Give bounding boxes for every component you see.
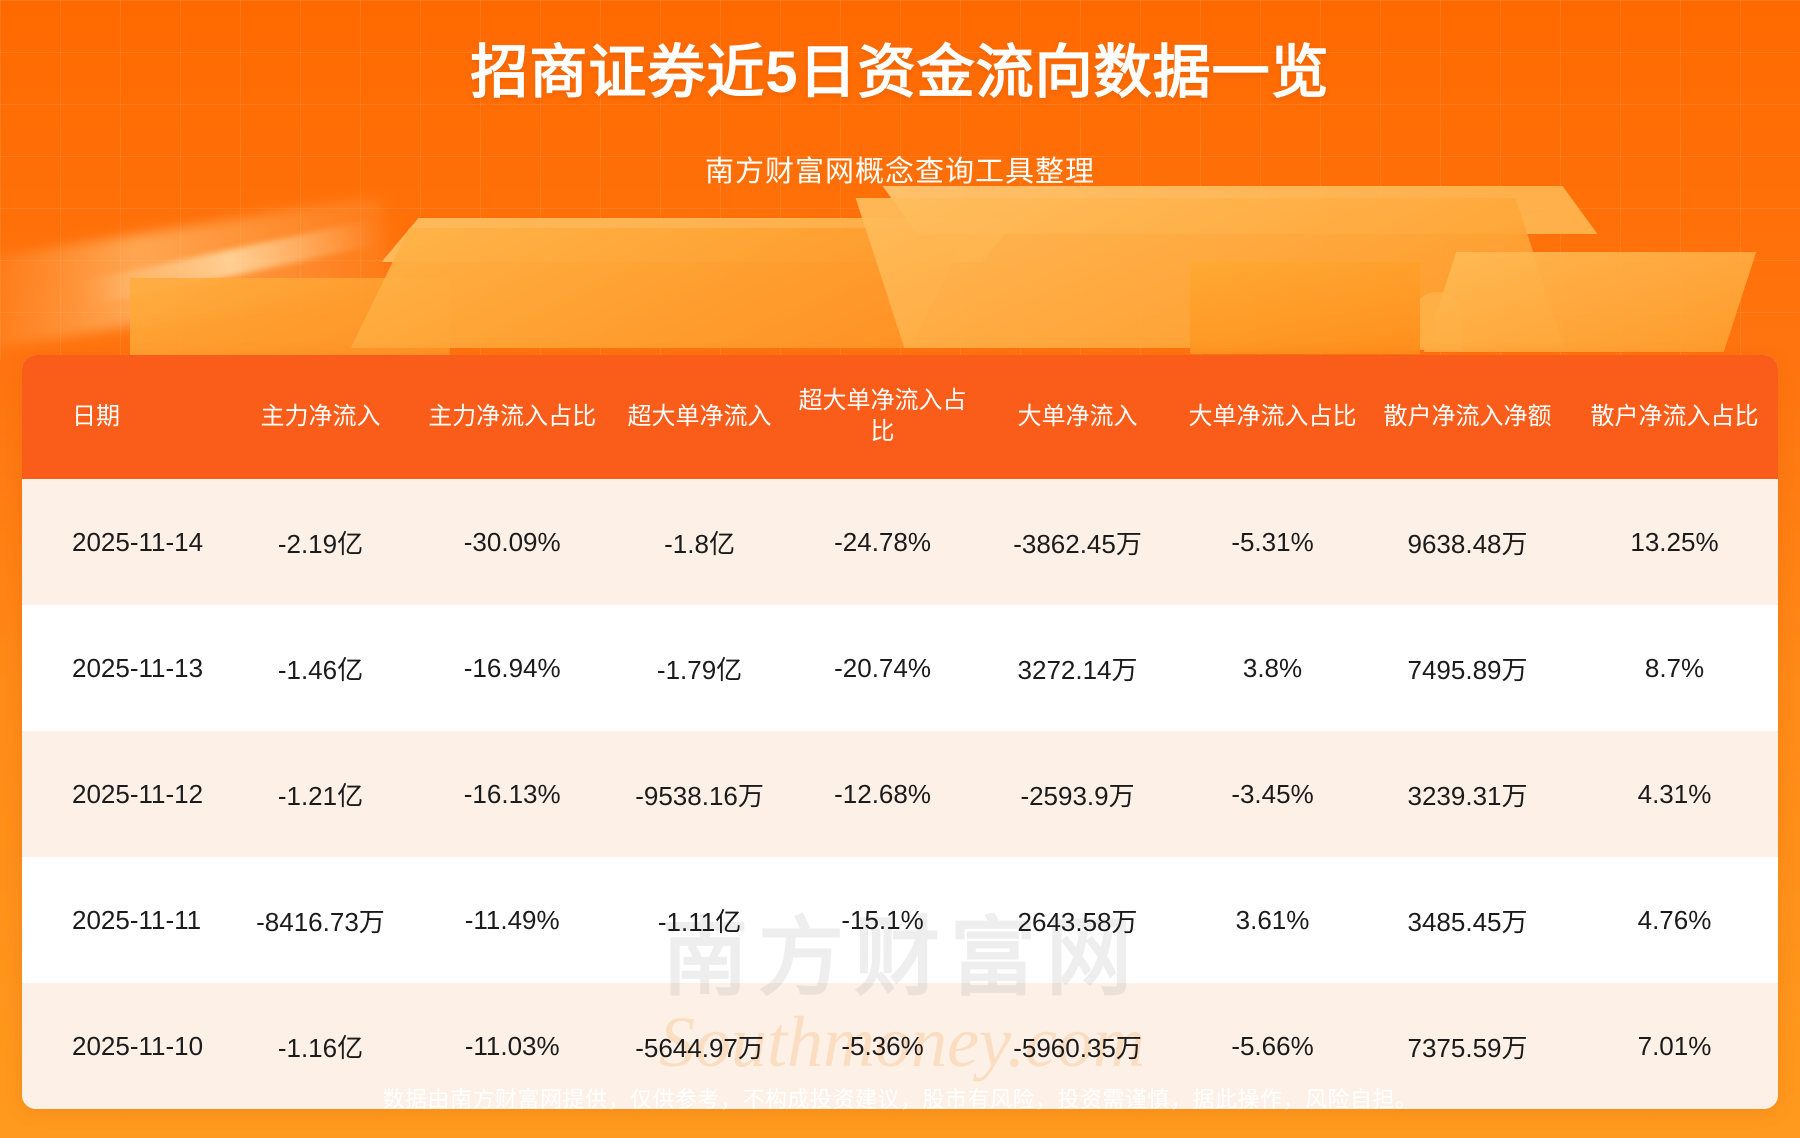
cell-main-net: -1.21亿: [225, 731, 417, 857]
cell-retail-pct: 4.31%: [1571, 731, 1778, 857]
cell-main-net: -8416.73万: [225, 857, 417, 983]
table-row: 2025-11-13 -1.46亿 -16.94% -1.79亿 -20.74%…: [22, 605, 1778, 731]
table-body: 2025-11-14 -2.19亿 -30.09% -1.8亿 -24.78% …: [22, 479, 1778, 1109]
cell-retail-pct: 13.25%: [1571, 479, 1778, 605]
cell-xl-pct: -12.68%: [791, 731, 974, 857]
cell-xl-net: -1.8亿: [608, 479, 791, 605]
cell-retail-net: 3485.45万: [1364, 857, 1571, 983]
cell-xl-pct: -5.36%: [791, 983, 974, 1109]
cell-xl-net: -1.79亿: [608, 605, 791, 731]
column-header-xl-net: 超大单净流入: [608, 355, 791, 479]
decor-podium-center: [1190, 262, 1420, 354]
cell-main-pct: -16.13%: [416, 731, 608, 857]
fund-flow-table-card: 南方财富网 Southmoney.com 日期 主力净流入 主力净流入占比 超大…: [22, 355, 1778, 1109]
decor-podium-a-top: [382, 218, 1019, 262]
cell-date: 2025-11-14: [22, 479, 225, 605]
decor-podium-b: [856, 198, 1565, 348]
table-row: 2025-11-14 -2.19亿 -30.09% -1.8亿 -24.78% …: [22, 479, 1778, 605]
cell-main-pct: -11.03%: [416, 983, 608, 1109]
infographic-page: 招商证券近5日资金流向数据一览 南方财富网概念查询工具整理 南方财富网 Sout…: [0, 0, 1800, 1138]
column-header-lg-pct: 大单净流入占比: [1181, 355, 1364, 479]
page-subtitle: 南方财富网概念查询工具整理: [0, 148, 1800, 190]
cell-lg-pct: -5.31%: [1181, 479, 1364, 605]
cell-date: 2025-11-12: [22, 731, 225, 857]
table-header: 日期 主力净流入 主力净流入占比 超大单净流入 超大单净流入占比 大单净流入 大…: [22, 355, 1778, 479]
cell-xl-pct: -24.78%: [791, 479, 974, 605]
fund-flow-table: 日期 主力净流入 主力净流入占比 超大单净流入 超大单净流入占比 大单净流入 大…: [22, 355, 1778, 1109]
decor-swoosh-small: [81, 219, 380, 307]
table-row: 2025-11-10 -1.16亿 -11.03% -5644.97万 -5.3…: [22, 983, 1778, 1109]
cell-lg-net: -3862.45万: [974, 479, 1181, 605]
cell-lg-net: -2593.9万: [974, 731, 1181, 857]
decor-nub-two: [1412, 292, 1462, 350]
cell-lg-pct: -3.45%: [1181, 731, 1364, 857]
cell-main-net: -2.19亿: [225, 479, 417, 605]
cell-retail-net: 9638.48万: [1364, 479, 1571, 605]
cell-lg-pct: 3.8%: [1181, 605, 1364, 731]
table-row: 2025-11-11 -8416.73万 -11.49% -1.11亿 -15.…: [22, 857, 1778, 983]
cell-xl-pct: -20.74%: [791, 605, 974, 731]
cell-xl-net: -5644.97万: [608, 983, 791, 1109]
decor-podium-right: [1424, 252, 1756, 352]
cell-retail-net: 3239.31万: [1364, 731, 1571, 857]
cell-date: 2025-11-11: [22, 857, 225, 983]
cell-main-net: -1.16亿: [225, 983, 417, 1109]
column-header-retail-net: 散户净流入净额: [1364, 355, 1571, 479]
table-row: 2025-11-12 -1.21亿 -16.13% -9538.16万 -12.…: [22, 731, 1778, 857]
cell-retail-pct: 8.7%: [1571, 605, 1778, 731]
column-header-date: 日期: [22, 355, 225, 479]
cell-main-pct: -16.94%: [416, 605, 608, 731]
cell-xl-net: -9538.16万: [608, 731, 791, 857]
page-title: 招商证券近5日资金流向数据一览: [0, 38, 1800, 108]
cell-lg-net: 3272.14万: [974, 605, 1181, 731]
cell-main-pct: -11.49%: [416, 857, 608, 983]
decor-podium-a: [351, 228, 970, 348]
decor-podium-left: [130, 278, 450, 358]
column-header-xl-pct: 超大单净流入占比: [791, 355, 974, 479]
cell-main-net: -1.46亿: [225, 605, 417, 731]
column-header-main-pct: 主力净流入占比: [416, 355, 608, 479]
cell-retail-pct: 7.01%: [1571, 983, 1778, 1109]
table-header-row: 日期 主力净流入 主力净流入占比 超大单净流入 超大单净流入占比 大单净流入 大…: [22, 355, 1778, 479]
cell-date: 2025-11-13: [22, 605, 225, 731]
column-header-lg-net: 大单净流入: [974, 355, 1181, 479]
column-header-retail-pct: 散户净流入占比: [1571, 355, 1778, 479]
decor-nub-one: [1208, 286, 1256, 348]
column-header-main-net: 主力净流入: [225, 355, 417, 479]
decor-swoosh: [0, 196, 394, 351]
cell-retail-pct: 4.76%: [1571, 857, 1778, 983]
cell-lg-net: 2643.58万: [974, 857, 1181, 983]
cell-lg-pct: -5.66%: [1181, 983, 1364, 1109]
cell-main-pct: -30.09%: [416, 479, 608, 605]
cell-lg-pct: 3.61%: [1181, 857, 1364, 983]
cell-retail-net: 7495.89万: [1364, 605, 1571, 731]
cell-date: 2025-11-10: [22, 983, 225, 1109]
cell-xl-net: -1.11亿: [608, 857, 791, 983]
cell-lg-net: -5960.35万: [974, 983, 1181, 1109]
cell-xl-pct: -15.1%: [791, 857, 974, 983]
decor-podium-b-top: [883, 186, 1598, 234]
cell-retail-net: 7375.59万: [1364, 983, 1571, 1109]
